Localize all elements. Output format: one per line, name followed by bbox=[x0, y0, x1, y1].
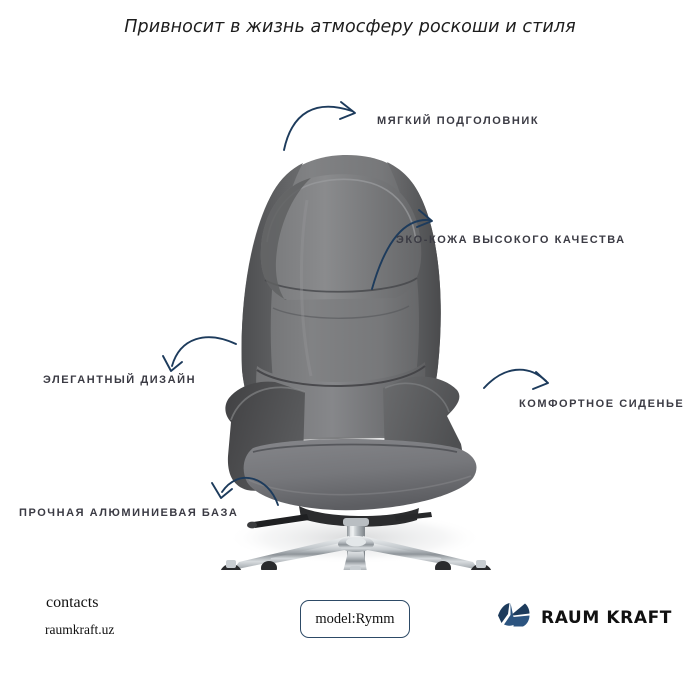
model-badge-label: model:Rymm bbox=[315, 611, 394, 628]
brand-name: RAUM KRAFT bbox=[541, 608, 672, 628]
feature-label-seat: КОМФОРТНОЕ СИДЕНЬЕ bbox=[519, 398, 684, 410]
contacts-website[interactable]: raumkraft.uz bbox=[45, 622, 114, 638]
brand-logo: RAUM KRAFT bbox=[497, 602, 672, 633]
contacts-heading: contacts bbox=[46, 594, 98, 612]
feature-label-base: ПРОЧНАЯ АЛЮМИНИЕВАЯ БАЗА bbox=[19, 507, 238, 519]
infographic-page: Привносит в жизнь атмосферу роскоши и ст… bbox=[0, 0, 700, 700]
feature-label-leather: ЭКО-КОЖА ВЫСОКОГО КАЧЕСТВА bbox=[396, 234, 626, 246]
model-badge: model:Rymm bbox=[300, 600, 410, 638]
feature-label-headrest: МЯГКИЙ ПОДГОЛОВНИК bbox=[377, 115, 539, 127]
office-chair-photo bbox=[195, 130, 515, 570]
page-title: Привносит в жизнь атмосферу роскоши и ст… bbox=[0, 17, 700, 37]
feature-label-design: ЭЛЕГАНТНЫЙ ДИЗАЙН bbox=[43, 374, 196, 386]
raum-kraft-logo-icon bbox=[497, 602, 531, 633]
